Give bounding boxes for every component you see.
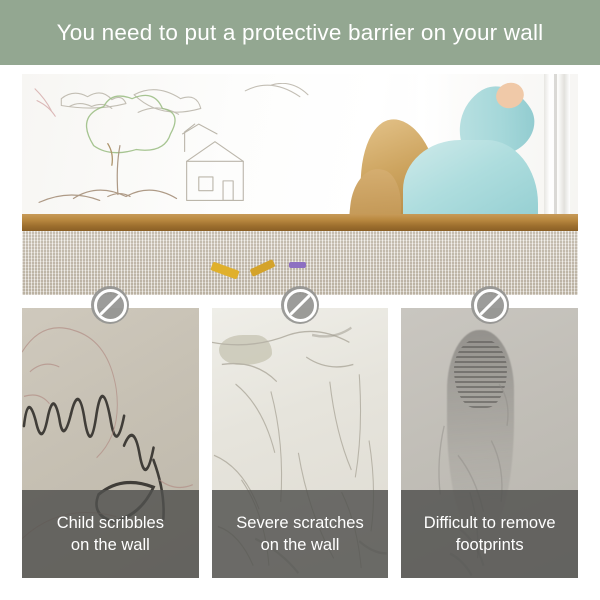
- caption-line-1: Child scribbles: [57, 512, 164, 534]
- caption-line-1: Severe scratches: [236, 512, 363, 534]
- crayon-purple: [289, 262, 306, 269]
- prohibition-icon: [474, 289, 507, 322]
- header-banner: You need to put a protective barrier on …: [0, 0, 600, 65]
- panel-caption-difficult-footprints: Difficult to remove footprints: [401, 490, 578, 578]
- product-infographic: You need to put a protective barrier on …: [0, 0, 600, 600]
- caption-line-2: on the wall: [261, 534, 340, 556]
- prohibition-icon: [284, 289, 317, 322]
- caption-line-1: Difficult to remove: [424, 512, 556, 534]
- prohibition-icon: [94, 289, 127, 322]
- prohibition-icon-1: [91, 286, 129, 324]
- hero-scene: [22, 74, 578, 295]
- prohibition-icon-2: [281, 286, 319, 324]
- hero-photo: [22, 74, 578, 295]
- panel-caption-severe-scratches: Severe scratches on the wall: [212, 490, 389, 578]
- crayon-drawings: [33, 83, 367, 220]
- caption-line-2: on the wall: [71, 534, 150, 556]
- problem-panels: Child scribbles on the wall: [22, 308, 578, 578]
- page-title: You need to put a protective barrier on …: [57, 20, 544, 46]
- caption-line-2: footprints: [456, 534, 524, 556]
- panel-child-scribbles: Child scribbles on the wall: [22, 308, 199, 578]
- panel-severe-scratches: Severe scratches on the wall: [212, 308, 389, 578]
- panel-caption-child-scribbles: Child scribbles on the wall: [22, 490, 199, 578]
- baseboard: [22, 214, 578, 231]
- panel-difficult-footprints: Difficult to remove footprints: [401, 308, 578, 578]
- prohibition-icon-3: [471, 286, 509, 324]
